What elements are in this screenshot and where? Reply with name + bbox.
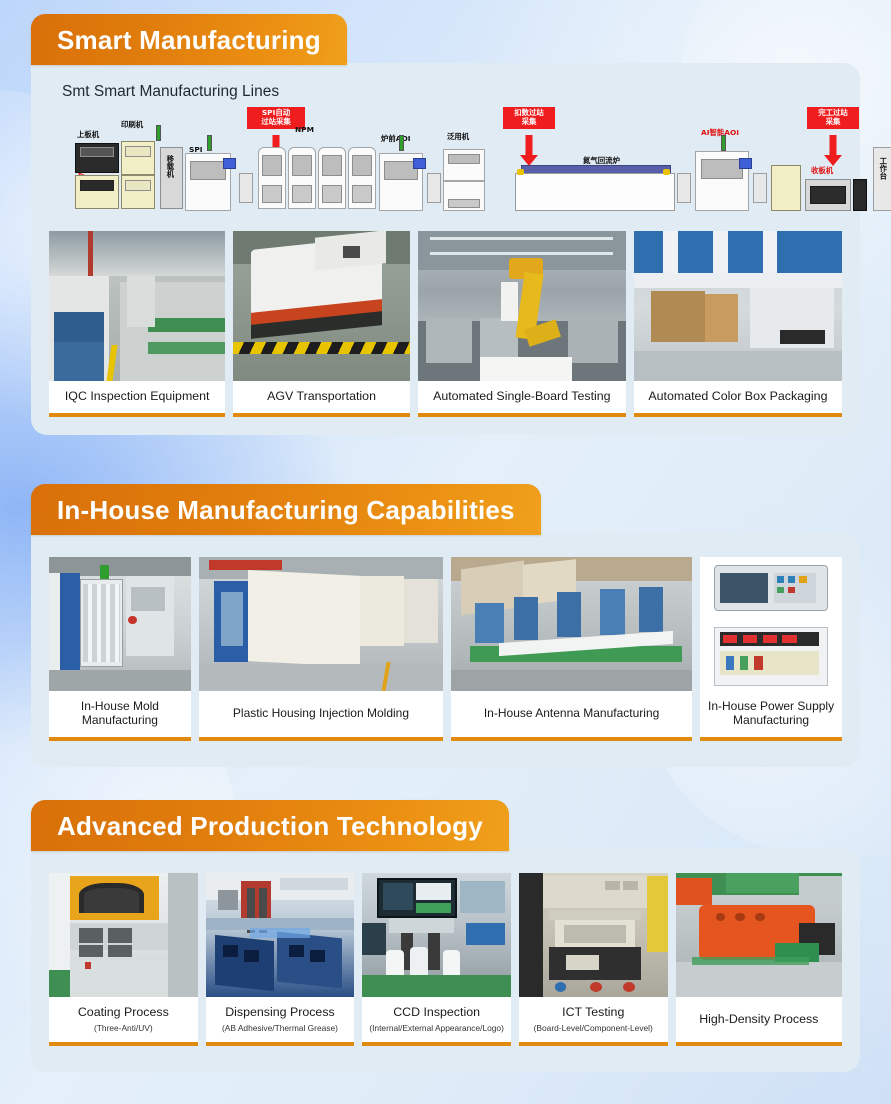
card-title-color-box-packaging: Automated Color Box Packaging [648, 389, 827, 404]
machine-npm-2 [288, 147, 316, 209]
diagram-label-printer: 印刷机 [121, 119, 143, 130]
section-header-smart-manufacturing: Smart Manufacturing [31, 14, 347, 65]
card-dispensing-process[interactable]: Dispensing Process (AB Adhesive/Thermal … [206, 873, 355, 1046]
reflow-oven-body [515, 173, 675, 211]
panel-title-smt-lines: Smt Smart Manufacturing Lines [62, 83, 842, 101]
card-in-house-antenna[interactable]: In-House Antenna Manufacturing [451, 557, 692, 741]
photo-dispensing-process [206, 873, 355, 997]
machine-universal-top [443, 149, 485, 181]
card-coating-process[interactable]: Coating Process (Three-Anti/UV) [49, 873, 198, 1046]
machine-npm-1 [258, 147, 286, 209]
callout-count-station: 扣数过站采集 [503, 107, 555, 128]
machine-loader [75, 143, 119, 173]
card-title-ict-testing: ICT Testing [562, 1005, 624, 1020]
photo-ict-testing [519, 873, 668, 997]
photo-in-house-antenna [451, 557, 692, 691]
card-caption-iqc: IQC Inspection Equipment [49, 381, 225, 413]
card-row-advanced-production: Coating Process (Three-Anti/UV) [49, 873, 842, 1046]
signal-tower-ai-aoi [721, 135, 726, 151]
card-row-in-house-manufacturing: In-House Mold Manufacturing [49, 557, 842, 741]
photo-coating-process [49, 873, 198, 997]
photo-agv-transportation [233, 231, 409, 381]
photo-iqc-inspection [49, 231, 225, 381]
photo-in-house-power-supply [700, 557, 842, 691]
machine-buffer-1 [239, 173, 253, 203]
signal-tower-spi [207, 135, 212, 151]
card-title-iqc: IQC Inspection Equipment [65, 389, 210, 404]
card-title-in-house-antenna: In-House Antenna Manufacturing [484, 706, 659, 720]
card-plastic-housing-injection[interactable]: Plastic Housing Injection Molding [199, 557, 443, 741]
diagram-label-universal: 泛用机 [447, 131, 469, 142]
card-color-box-packaging[interactable]: Automated Color Box Packaging [634, 231, 842, 417]
indicator-lamp-left [517, 169, 524, 175]
card-subtitle-ccd-inspection: (Internal/External Appearance/Logo) [369, 1023, 504, 1033]
photo-single-board-testing [418, 231, 626, 381]
section-smart-manufacturing: Smart Manufacturing Smt Smart Manufactur… [31, 14, 860, 435]
machine-stacker [75, 175, 119, 209]
card-ccd-inspection[interactable]: CCD Inspection (Internal/External Appear… [362, 873, 511, 1046]
machine-printer-1 [121, 141, 155, 175]
smt-line-diagram: 上板机 印刷机 叠板机 移载机 SPI SPI自动过站采集 NPM [55, 107, 836, 225]
card-caption-agv: AGV Transportation [233, 381, 409, 413]
card-single-board-testing[interactable]: Automated Single-Board Testing [418, 231, 626, 417]
diagram-label-npm: NPM [295, 125, 314, 134]
card-title-in-house-power-supply: In-House Power Supply Manufacturing [706, 699, 836, 728]
machine-buffer-4 [753, 173, 767, 203]
card-agv-transportation[interactable]: AGV Transportation [233, 231, 409, 417]
card-title-high-density-process: High-Density Process [699, 1012, 818, 1027]
card-title-coating-process: Coating Process [78, 1005, 169, 1020]
card-title-dispensing-process: Dispensing Process [225, 1005, 335, 1020]
machine-buffer-3 [677, 173, 691, 203]
card-caption-plastic-housing: Plastic Housing Injection Molding [199, 691, 443, 737]
card-in-house-mold[interactable]: In-House Mold Manufacturing [49, 557, 191, 741]
photo-in-house-mold [49, 557, 191, 691]
card-title-plastic-housing: Plastic Housing Injection Molding [233, 706, 409, 720]
screen-ai-aoi [739, 158, 752, 169]
photo-high-density-process [676, 873, 842, 997]
section-advanced-production-technology: Advanced Production Technology [31, 800, 860, 1072]
card-ict-testing[interactable]: ICT Testing (Board-Level/Component-Level… [519, 873, 668, 1046]
card-caption-ict-testing: ICT Testing (Board-Level/Component-Level… [519, 997, 668, 1042]
section-header-in-house-manufacturing: In-House Manufacturing Capabilities [31, 484, 541, 535]
machine-universal-bottom [443, 181, 485, 211]
card-row-smart-manufacturing: IQC Inspection Equipment A [49, 231, 842, 417]
card-title-in-house-mold: In-House Mold Manufacturing [55, 699, 185, 728]
card-in-house-power-supply[interactable]: In-House Power Supply Manufacturing [700, 557, 842, 741]
machine-unloader [805, 179, 851, 211]
machine-printer-2 [121, 175, 155, 209]
card-title-single-board-testing: Automated Single-Board Testing [433, 389, 610, 404]
diagram-label-transfer: 移载机 [166, 155, 174, 177]
indicator-lamp-right [663, 169, 670, 175]
card-subtitle-ict-testing: (Board-Level/Component-Level) [534, 1023, 653, 1033]
screen-spi [223, 158, 236, 169]
signal-tower-aoi [399, 135, 404, 151]
section-in-house-manufacturing: In-House Manufacturing Capabilities [31, 484, 860, 767]
diagram-label-pre-reflow-aoi: 炉前AOI [381, 133, 411, 144]
diagram-label-workbench: 工作台 [879, 157, 887, 179]
card-subtitle-coating-process: (Three-Anti/UV) [94, 1023, 153, 1033]
photo-plastic-housing-injection [199, 557, 443, 691]
card-caption-in-house-power-supply: In-House Power Supply Manufacturing [700, 691, 842, 737]
card-caption-dispensing-process: Dispensing Process (AB Adhesive/Thermal … [206, 997, 355, 1042]
card-caption-ccd-inspection: CCD Inspection (Internal/External Appear… [362, 997, 511, 1042]
section-panel-in-house-manufacturing: In-House Mold Manufacturing [31, 533, 860, 767]
card-caption-in-house-antenna: In-House Antenna Manufacturing [451, 691, 692, 737]
card-caption-high-density-process: High-Density Process [676, 997, 842, 1042]
machine-flipper [771, 165, 801, 211]
photo-ccd-inspection [362, 873, 511, 997]
card-caption-coating-process: Coating Process (Three-Anti/UV) [49, 997, 198, 1042]
card-iqc-inspection[interactable]: IQC Inspection Equipment [49, 231, 225, 417]
card-high-density-process[interactable]: High-Density Process [676, 873, 842, 1046]
machine-npm-4 [348, 147, 376, 209]
section-header-advanced-production-technology: Advanced Production Technology [31, 800, 509, 851]
machine-unloader-end [853, 179, 867, 211]
section-panel-advanced-production-technology: Coating Process (Three-Anti/UV) [31, 849, 860, 1072]
signal-tower-printer [156, 125, 161, 141]
screen-aoi [413, 158, 426, 169]
photo-color-box-packaging [634, 231, 842, 381]
section-panel-smart-manufacturing: Smt Smart Manufacturing Lines 上板机 印刷机 叠板… [31, 63, 860, 435]
card-caption-color-box-packaging: Automated Color Box Packaging [634, 381, 842, 413]
card-title-agv: AGV Transportation [267, 389, 376, 404]
machine-npm-3 [318, 147, 346, 209]
callout-finish-station: 完工过站采集 [807, 107, 859, 128]
diagram-label-loader: 上板机 [77, 129, 99, 140]
machine-buffer-2 [427, 173, 441, 203]
diagram-label-ai-aoi: AI智能AOI [701, 127, 739, 138]
card-title-ccd-inspection: CCD Inspection [393, 1005, 480, 1020]
card-caption-in-house-mold: In-House Mold Manufacturing [49, 691, 191, 737]
card-subtitle-dispensing-process: (AB Adhesive/Thermal Grease) [222, 1023, 338, 1033]
card-caption-single-board-testing: Automated Single-Board Testing [418, 381, 626, 413]
diagram-label-unloader: 收板机 [811, 165, 833, 176]
